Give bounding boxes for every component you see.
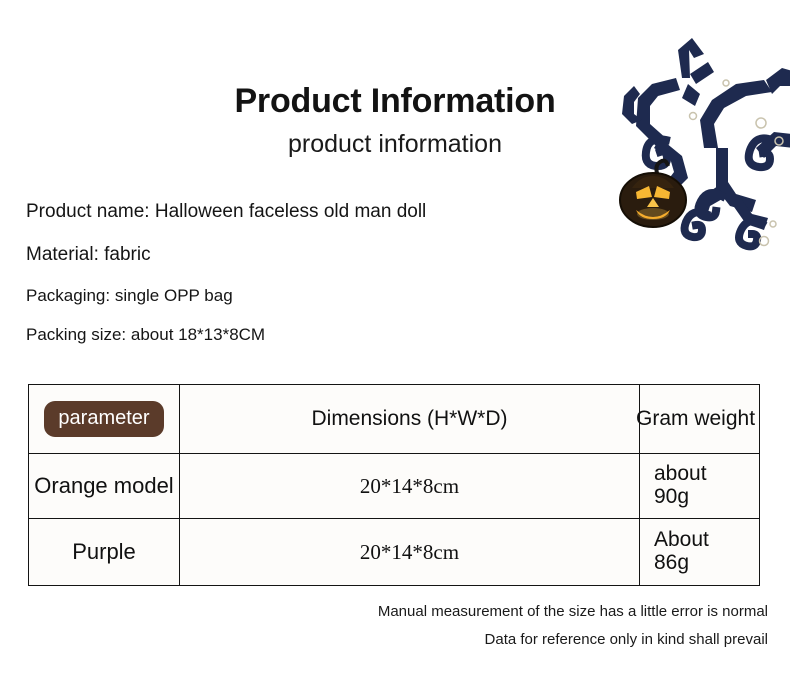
cell-weight: about 90g bbox=[639, 454, 761, 518]
footnote-measurement: Manual measurement of the size has a lit… bbox=[0, 598, 768, 626]
model-name-purple: Purple bbox=[72, 539, 136, 565]
dimensions-purple: 20*14*8cm bbox=[360, 540, 459, 565]
header-cell-gram-weight: Gram weight bbox=[639, 385, 761, 453]
product-spec-list: Product name: Halloween faceless old man… bbox=[26, 190, 546, 354]
header-cell-parameter: parameter bbox=[29, 385, 179, 453]
weight-orange: about 90g bbox=[654, 463, 730, 508]
weight-purple: About 86g bbox=[654, 529, 730, 574]
table-row: Orange model 20*14*8cm about 90g bbox=[29, 454, 759, 519]
pumpkin-icon bbox=[620, 161, 686, 227]
header-label-gram-weight: Gram weight bbox=[636, 407, 755, 431]
dimensions-orange: 20*14*8cm bbox=[360, 474, 459, 499]
footnote-reference: Data for reference only in kind shall pr… bbox=[0, 626, 768, 654]
spec-packaging: Packaging: single OPP bag bbox=[26, 276, 546, 315]
page-header: Product Information product information bbox=[0, 82, 790, 159]
footnote-block: Manual measurement of the size has a lit… bbox=[0, 598, 768, 654]
cell-model-name: Orange model bbox=[29, 454, 179, 518]
table-row: Purple 20*14*8cm About 86g bbox=[29, 519, 759, 585]
table-header-row: parameter Dimensions (H*W*D) Gram weight bbox=[29, 385, 759, 454]
spec-packing-size: Packing size: about 18*13*8CM bbox=[26, 315, 546, 354]
spec-product-name: Product name: Halloween faceless old man… bbox=[26, 190, 546, 233]
model-name-orange: Orange model bbox=[34, 473, 173, 499]
cell-dimensions: 20*14*8cm bbox=[179, 454, 639, 518]
page-subtitle: product information bbox=[0, 129, 790, 159]
cell-dimensions: 20*14*8cm bbox=[179, 519, 639, 585]
cell-weight: About 86g bbox=[639, 519, 761, 585]
page-title: Product Information bbox=[0, 82, 790, 121]
cell-model-name: Purple bbox=[29, 519, 179, 585]
parameter-badge: parameter bbox=[44, 401, 163, 437]
spec-material: Material: fabric bbox=[26, 233, 546, 276]
specification-table: parameter Dimensions (H*W*D) Gram weight… bbox=[28, 384, 760, 586]
header-cell-dimensions: Dimensions (H*W*D) bbox=[179, 385, 639, 453]
header-label-dimensions: Dimensions (H*W*D) bbox=[311, 407, 507, 431]
